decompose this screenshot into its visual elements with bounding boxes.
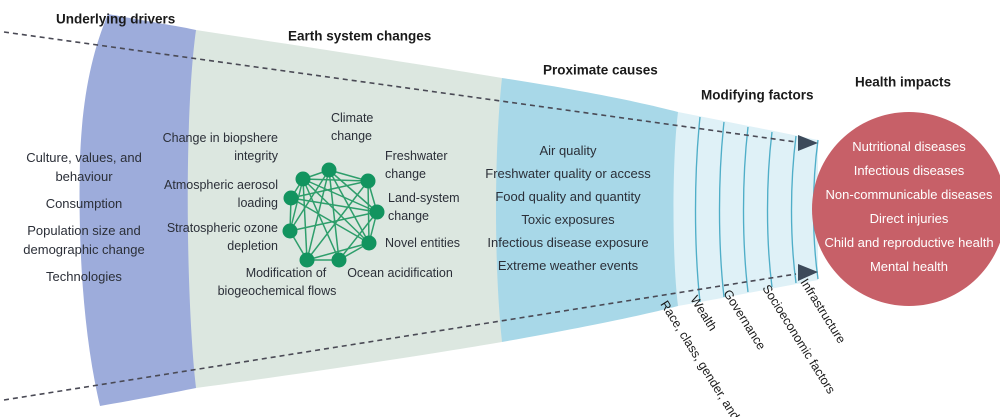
band-earth-system-changes xyxy=(188,30,502,388)
underlying-drivers-item: Consumption xyxy=(46,196,123,211)
network-node-climate-change xyxy=(322,163,337,178)
network-label-ocean-acidification: Ocean acidification xyxy=(347,266,453,280)
network-node-novel-entities xyxy=(362,236,377,251)
network-label-biosphere-integrity-line1: Change in biopshere xyxy=(163,131,278,145)
modifying-factor-label-governance: Governance xyxy=(720,287,768,352)
diagram-canvas: Underlying drivers Earth system changes … xyxy=(0,0,1000,417)
header-modifying-factors: Modifying factors xyxy=(701,88,814,103)
proximate-causes-item: Infectious disease exposure xyxy=(487,235,648,250)
network-node-ocean-acidification xyxy=(332,253,347,268)
network-label-atmospheric-aerosol-line1: Atmospheric aerosol xyxy=(164,178,278,192)
proximate-causes-item: Extreme weather events xyxy=(498,258,639,273)
health-impacts-item: Nutritional diseases xyxy=(852,139,966,154)
network-label-land-system-change-line1: Land-system xyxy=(388,191,460,205)
band-earth-system-changes-shape xyxy=(188,30,502,388)
health-impacts-item: Child and reproductive health xyxy=(824,235,993,250)
proximate-causes-item: Air quality xyxy=(539,143,597,158)
network-node-freshwater-change xyxy=(361,174,376,189)
network-label-freshwater-change-line1: Freshwater xyxy=(385,149,448,163)
network-label-biogeochemical-flows-line2: biogeochemical flows xyxy=(218,284,337,298)
header-proximate-causes: Proximate causes xyxy=(543,63,658,78)
proximate-causes-item: Toxic exposures xyxy=(521,212,615,227)
band-proximate-causes-shape xyxy=(496,78,678,342)
proximate-causes-item: Freshwater quality or access xyxy=(485,166,651,181)
network-node-stratospheric-ozone xyxy=(283,224,298,239)
network-label-freshwater-change-line2: change xyxy=(385,167,426,181)
network-node-land-system-change xyxy=(370,205,385,220)
underlying-drivers-item: behaviour xyxy=(55,169,113,184)
network-label-stratospheric-ozone-line1: Stratospheric ozone xyxy=(167,221,278,235)
proximate-causes-item: Food quality and quantity xyxy=(495,189,641,204)
network-label-biogeochemical-flows-line1: Modification of xyxy=(246,266,327,280)
network-label-stratospheric-ozone-line2: depletion xyxy=(227,239,278,253)
network-label-novel-entities: Novel entities xyxy=(385,236,460,250)
network-label-climate-change-line1: Climate xyxy=(331,111,373,125)
underlying-drivers-item: Population size and xyxy=(27,223,140,238)
underlying-drivers-item: Technologies xyxy=(46,269,122,284)
health-impacts-item: Mental health xyxy=(870,259,948,274)
band-modifying-factors xyxy=(674,112,819,306)
header-earth-system-changes: Earth system changes xyxy=(288,29,431,44)
health-impacts-item: Infectious diseases xyxy=(854,163,965,178)
network-label-climate-change-line2: change xyxy=(331,129,372,143)
network-label-biosphere-integrity-line2: integrity xyxy=(234,149,279,163)
network-label-land-system-change-line2: change xyxy=(388,209,429,223)
underlying-drivers-item: Culture, values, and xyxy=(26,150,142,165)
header-health-impacts: Health impacts xyxy=(855,75,951,90)
health-impacts-item: Non-communicable diseases xyxy=(826,187,993,202)
underlying-drivers-item: demographic change xyxy=(23,242,144,257)
health-impacts-item: Direct injuries xyxy=(870,211,949,226)
modifying-factor-label-socioeconomic-factors: Socioeconomic factors xyxy=(759,282,838,396)
funnel-diagram: Underlying drivers Earth system changes … xyxy=(0,0,1000,417)
network-label-atmospheric-aerosol-line2: loading xyxy=(238,196,278,210)
network-node-biosphere-integrity xyxy=(296,172,311,187)
band-proximate-causes xyxy=(496,78,678,342)
network-node-atmospheric-aerosol xyxy=(284,191,299,206)
header-underlying-drivers: Underlying drivers xyxy=(56,12,175,27)
